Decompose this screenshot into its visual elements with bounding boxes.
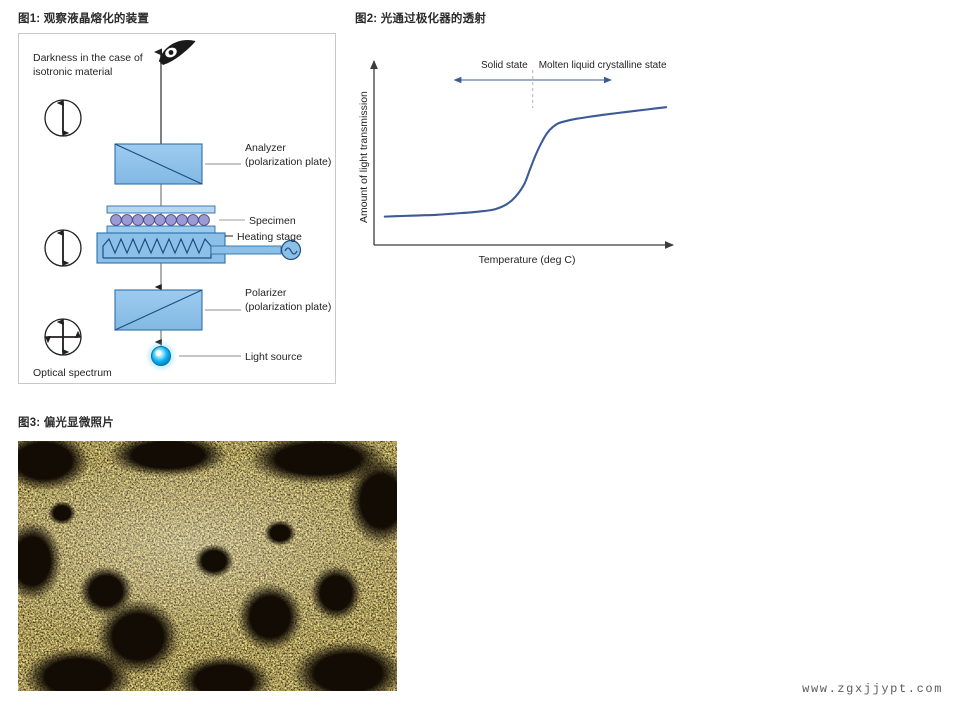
site-watermark: www.zgxjjypt.com [802,682,943,696]
figure1-title: 图1: 观察液晶熔化的装置 [18,10,149,26]
ac-source-icon [282,241,301,260]
figure1-apparatus-panel: Darkness in the case of isotronic materi… [18,33,336,384]
figure2-chart-panel: Amount of light transmission Temperature… [355,33,695,273]
figure2-title: 图2: 光通过极化器的透射 [355,10,486,26]
darkness-label-line2: isotronic material [33,66,112,78]
unpolarized-spectrum-icon [45,319,81,355]
heater-power-lead [211,246,281,254]
light-source-icon [145,340,177,372]
figure3-micrograph [18,441,397,691]
heating-stage-label: Heating stage [237,231,302,243]
analyzer-label-line2: (polarization plate) [245,156,331,168]
specimen-molecule-beads [111,215,210,226]
analyzer-label-line1: Analyzer [245,142,286,154]
molten-state-label: Molten liquid crystalline state [539,60,667,71]
optical-spectrum-label: Optical spectrum [33,367,112,379]
vertical-polarization-icon-top [45,100,81,136]
polarizer-label-line1: Polarizer [245,287,287,299]
transmission-vs-temperature-chart: Amount of light transmission Temperature… [355,33,695,273]
transmission-curve [385,107,666,216]
vertical-polarization-icon-middle [45,230,81,266]
figure3-title: 图3: 偏光显微照片 [18,414,114,430]
x-axis-title: Temperature (deg C) [479,254,576,266]
analyzer-plate [115,144,202,184]
solid-state-label: Solid state [481,60,528,71]
apparatus-diagram: Darkness in the case of isotronic materi… [19,34,337,385]
eye-observer-icon [159,40,195,65]
darkness-label-line1: Darkness in the case of [33,52,143,64]
polarizer-plate [115,290,202,330]
polarized-light-micrograph-render [18,441,397,691]
y-axis-title: Amount of light transmission [358,91,370,223]
specimen-label: Specimen [249,215,296,227]
specimen-assembly [107,206,215,233]
polarizer-label-line2: (polarization plate) [245,301,331,313]
light-source-label: Light source [245,351,302,363]
